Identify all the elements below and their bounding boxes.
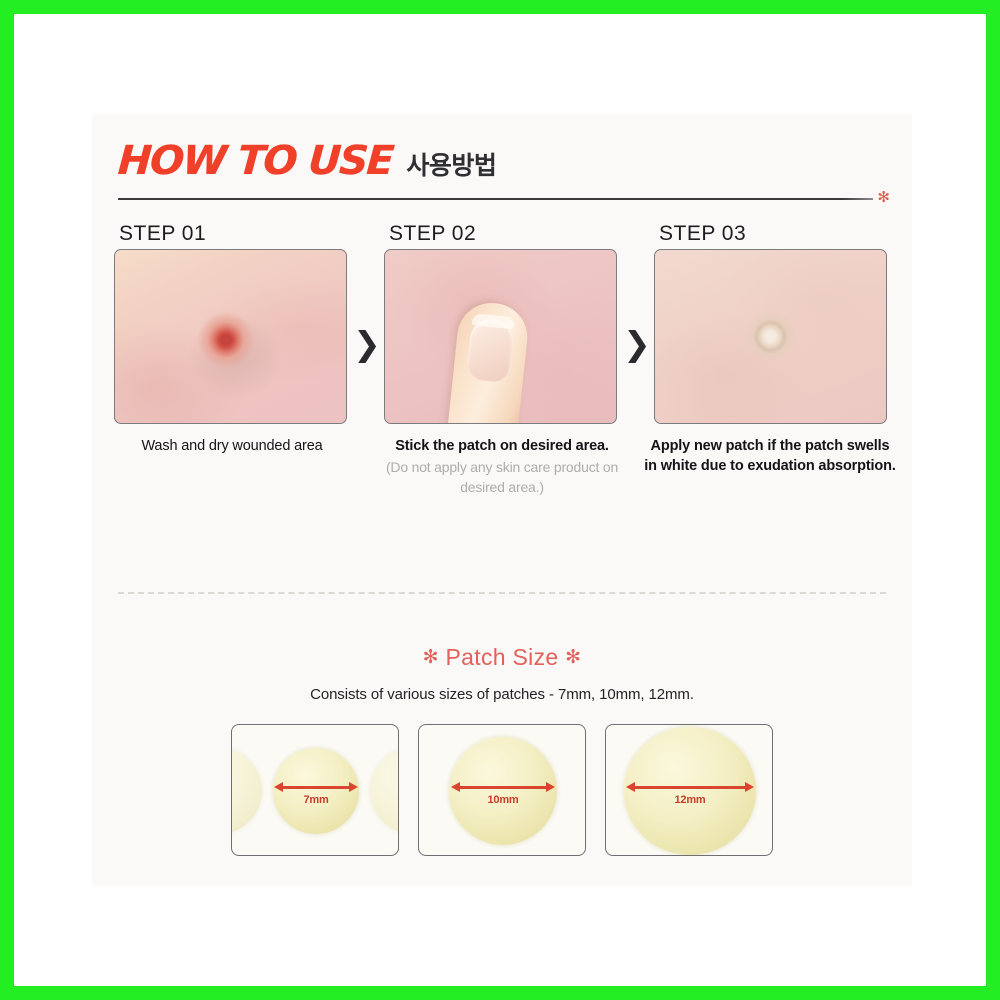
step-02-subcaption: (Do not apply any skin care product on d… xyxy=(384,458,620,497)
patch-circle-partial-right xyxy=(370,748,399,834)
section-divider xyxy=(118,592,886,594)
title-row: HOW TO USE 사용방법 xyxy=(118,138,888,184)
dimension-line xyxy=(459,786,547,789)
patch-circle-partial-left xyxy=(231,748,262,834)
step-01: STEP 01 Wash and dry wounded area xyxy=(114,222,350,456)
fingertip-graphic xyxy=(445,300,530,424)
dimension-label-12mm: 12mm xyxy=(626,794,754,806)
title-underline-wrap: ✻ xyxy=(118,194,888,206)
arrow-right-icon xyxy=(349,782,358,792)
patch-size-boxes: 7mm 10mm xyxy=(92,724,912,856)
chevron-right-icon-2: ❯ xyxy=(620,327,654,360)
step-03-photo xyxy=(654,249,887,424)
page-frame: HOW TO USE 사용방법 ✻ STEP 01 Wash and dry w… xyxy=(0,0,1000,1000)
step-02-label: STEP 02 xyxy=(384,222,620,246)
dimension-12mm: 12mm xyxy=(626,782,754,798)
asterisk-icon: ✻ xyxy=(877,190,890,205)
header: HOW TO USE 사용방법 ✻ xyxy=(118,138,888,206)
dimension-label-7mm: 7mm xyxy=(274,794,358,806)
page-title-korean: 사용방법 xyxy=(406,146,496,182)
step-03-caption: Apply new patch if the patch swells in w… xyxy=(643,436,897,476)
step-03: STEP 03 Apply new patch if the patch swe… xyxy=(654,222,890,476)
patch-size-title: ✻ Patch Size ✻ xyxy=(92,644,912,671)
step-02: STEP 02 Stick the patch on desired area.… xyxy=(384,222,620,497)
step-01-photo xyxy=(114,249,347,424)
dimension-line xyxy=(282,786,350,789)
step-01-label: STEP 01 xyxy=(114,222,350,246)
patch-box-10mm: 10mm xyxy=(418,724,586,856)
white-sheet: HOW TO USE 사용방법 ✻ STEP 01 Wash and dry w… xyxy=(14,14,986,986)
step-02-photo xyxy=(384,249,617,424)
dimension-line xyxy=(634,786,746,789)
chevron-right-icon: ❯ xyxy=(350,327,384,360)
instruction-card: HOW TO USE 사용방법 ✻ STEP 01 Wash and dry w… xyxy=(92,114,912,886)
patch-size-title-text: Patch Size xyxy=(446,644,559,670)
steps-row: STEP 01 Wash and dry wounded area ❯ STEP… xyxy=(114,222,890,497)
patch-size-subtitle: Consists of various sizes of patches - 7… xyxy=(92,686,912,703)
step-03-label: STEP 03 xyxy=(654,222,890,246)
asterisk-left-icon: ✻ xyxy=(423,647,439,668)
title-underline xyxy=(118,198,873,200)
dimension-label-10mm: 10mm xyxy=(451,794,555,806)
patch-box-12mm: 12mm xyxy=(605,724,773,856)
patch-box-7mm: 7mm xyxy=(231,724,399,856)
page-title: HOW TO USE xyxy=(116,138,394,184)
step-02-caption: Stick the patch on desired area. xyxy=(384,436,620,456)
step-01-caption: Wash and dry wounded area xyxy=(114,436,350,456)
arrow-right-icon xyxy=(546,782,555,792)
dimension-7mm: 7mm xyxy=(274,782,358,798)
arrow-right-icon xyxy=(745,782,754,792)
dimension-10mm: 10mm xyxy=(451,782,555,798)
asterisk-right-icon: ✻ xyxy=(565,647,581,668)
